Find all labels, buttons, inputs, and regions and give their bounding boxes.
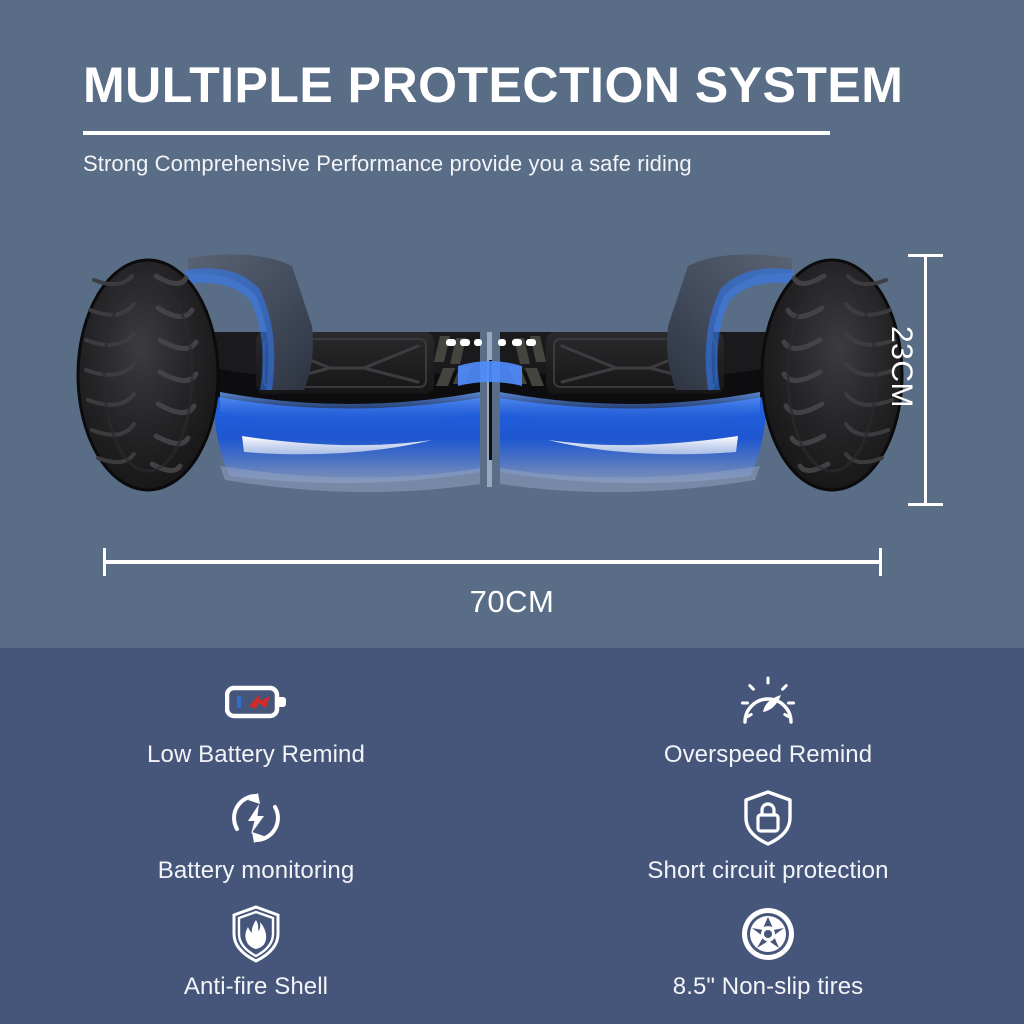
feature-non-slip-tires: 8.5" Non-slip tires [512,896,1024,1012]
height-cap-top [908,254,943,257]
width-dimension-line [100,548,885,578]
speedometer-icon [736,672,800,732]
page-title: MULTIPLE PROTECTION SYSTEM [83,58,943,112]
right-tire [762,260,902,490]
product-image-hoverboard [60,240,920,530]
tire-wheel-icon [736,904,800,964]
feature-label: Low Battery Remind [147,741,365,769]
hoverboard-left-half [210,332,480,492]
width-cap-right [879,548,882,576]
feature-battery-monitoring: Battery monitoring [0,780,512,896]
feature-short-circuit-protection: Short circuit protection [512,780,1024,896]
height-dimension-label: 23CM [884,326,918,408]
width-line [103,560,882,564]
shield-lock-icon [736,788,800,848]
feature-overspeed-remind: Overspeed Remind [512,664,1024,780]
hoverboard-right-half [500,332,770,492]
feature-anti-fire-shell: Anti-fire Shell [0,896,512,1012]
feature-low-battery-remind: Low Battery Remind [0,664,512,780]
infographic-page: MULTIPLE PROTECTION SYSTEM Strong Compre… [0,0,1024,1024]
feature-label: Overspeed Remind [664,741,872,769]
title-divider [83,131,830,135]
battery-monitoring-icon [224,788,288,848]
shield-flame-icon [224,904,288,964]
height-cap-bottom [908,503,943,506]
feature-label: Anti-fire Shell [184,973,328,1001]
feature-label: 8.5" Non-slip tires [673,973,864,1001]
feature-label: Short circuit protection [647,857,888,885]
width-cap-left [103,548,106,576]
feature-label: Battery monitoring [158,857,355,885]
width-dimension-label: 70CM [0,584,1024,620]
left-tire [78,260,218,490]
feature-grid: Low Battery Remind [0,664,1024,1012]
low-battery-icon [224,672,288,732]
height-line [924,254,927,506]
page-subtitle: Strong Comprehensive Performance provide… [83,151,692,177]
